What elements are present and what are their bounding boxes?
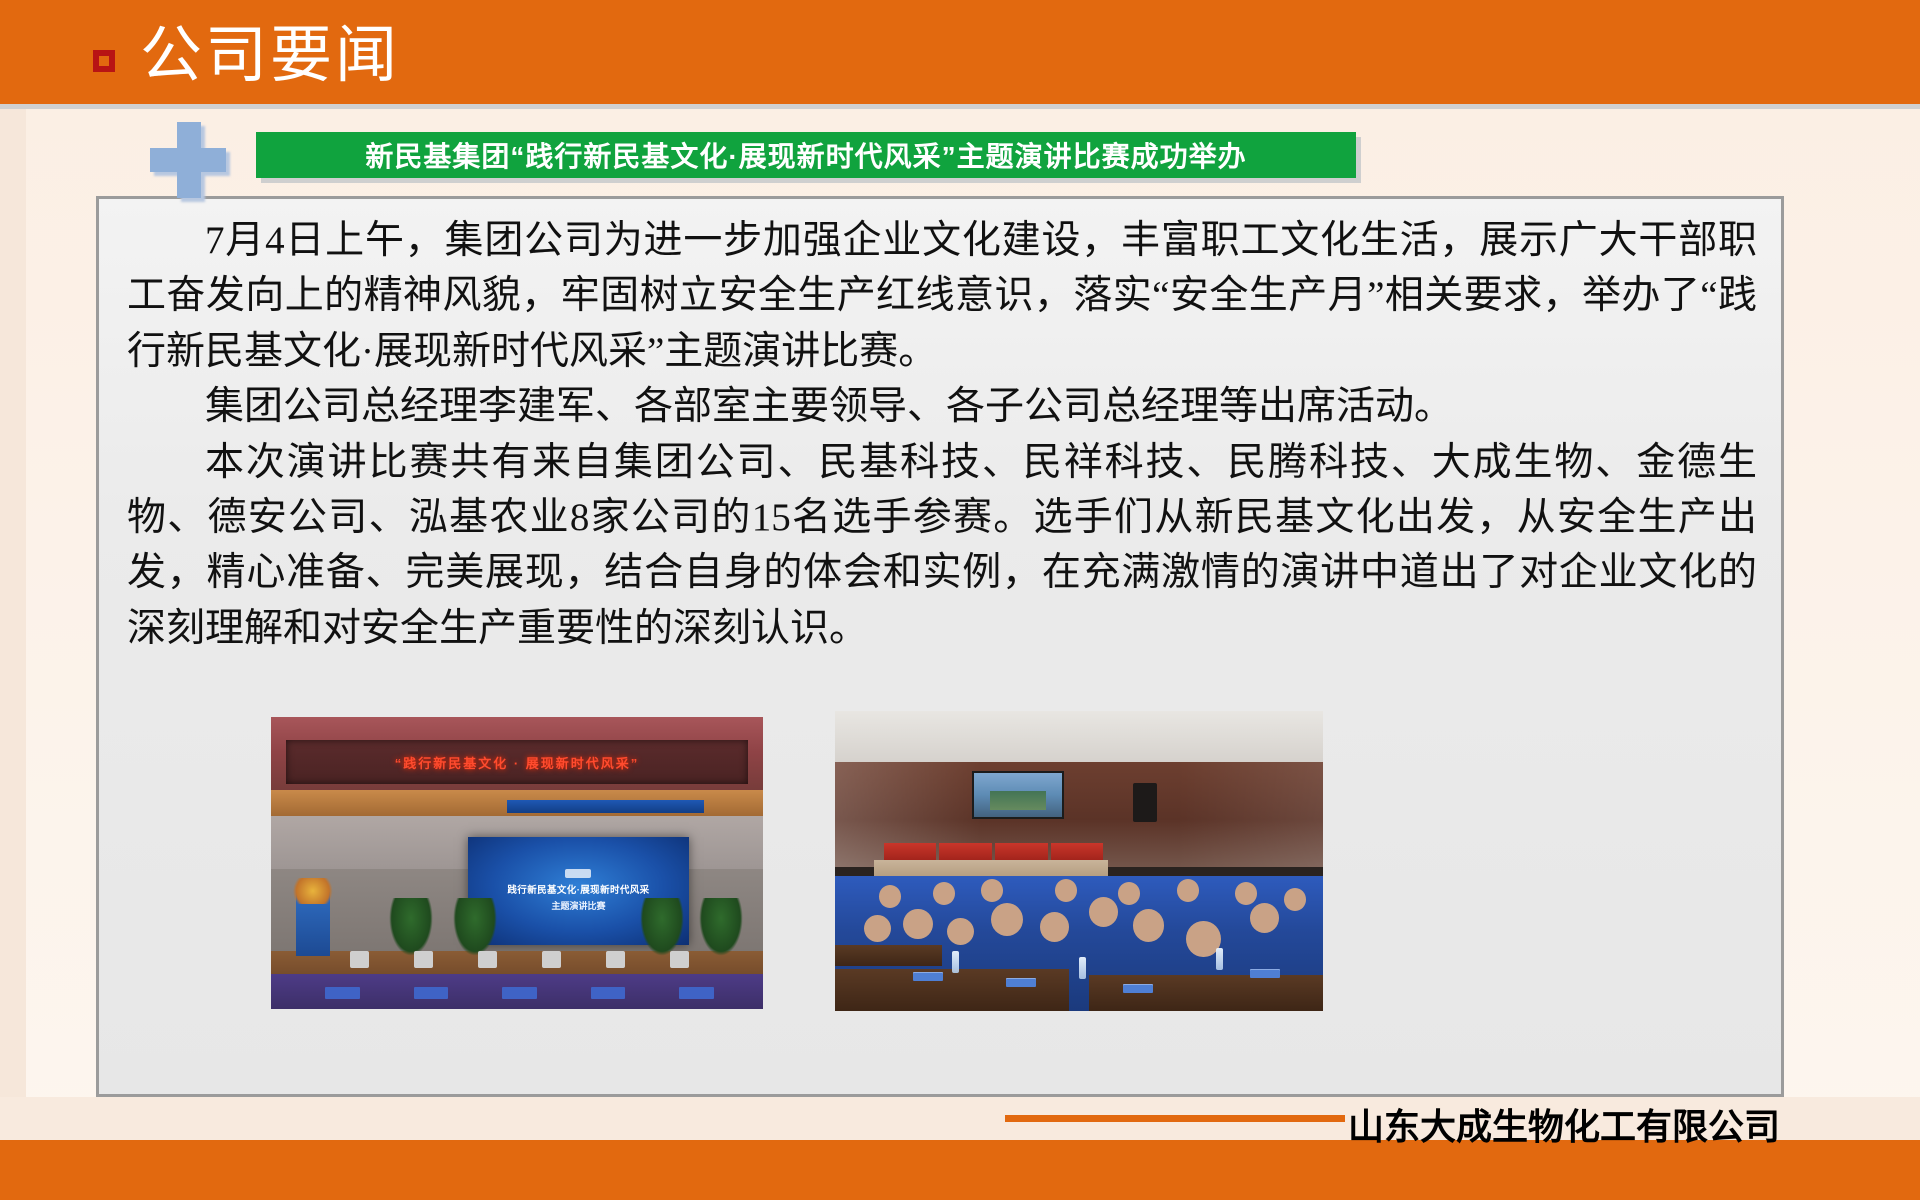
footer-company-name: 山东大成生物化工有限公司 — [1348, 1098, 1780, 1150]
square-bullet-icon — [93, 50, 115, 72]
photo-gallery: “践行新民基文化 · 展现新时代风采” 践行新民基文化·展现新时代风采 主题演讲… — [271, 717, 1571, 1017]
article-paragraph: 集团公司总经理李建军、各部室主要领导、各子公司总经理等出席活动。 — [127, 379, 1757, 434]
left-accent-rail-inner — [0, 0, 26, 1200]
left-accent-rail — [0, 0, 26, 1200]
article-body: 7月4日上午，集团公司为进一步加强企业文化建设，丰富职工文化生活，展示广大干部职… — [127, 213, 1757, 656]
slide-root: 公司要闻 新民基集团“践行新民基文化·展现新时代风采”主题演讲比赛成功举办 7月… — [0, 0, 1920, 1200]
screen-logo-icon — [565, 869, 591, 878]
news-banner-title: 新民基集团“践行新民基文化·展现新时代风采”主题演讲比赛成功举办 — [365, 135, 1246, 175]
auditorium-stage-photo: “践行新民基文化 · 展现新时代风采” 践行新民基文化·展现新时代风采 主题演讲… — [271, 717, 763, 1009]
footer-rule — [1005, 1115, 1345, 1122]
audience-photo — [835, 711, 1323, 1011]
wall-monitor — [972, 771, 1065, 819]
header-underline — [0, 104, 1920, 109]
article-paragraph: 7月4日上午，集团公司为进一步加强企业文化建设，丰富职工文化生活，展示广大干部职… — [127, 213, 1757, 379]
led-banner: “践行新民基文化 · 展现新时代风采” — [286, 740, 748, 784]
content-panel: 7月4日上午，集团公司为进一步加强企业文化建设，丰富职工文化生活，展示广大干部职… — [96, 196, 1784, 1097]
screen-title: 践行新民基文化·展现新时代风采 — [507, 882, 649, 896]
article-paragraph: 本次演讲比赛共有来自集团公司、民基科技、民祥科技、民腾科技、大成生物、金德生物、… — [127, 435, 1757, 657]
news-banner: 新民基集团“践行新民基文化·展现新时代风采”主题演讲比赛成功举办 — [256, 132, 1356, 178]
led-banner-text: “践行新民基文化 · 展现新时代风采” — [395, 753, 640, 772]
cross-marker-icon — [150, 122, 226, 198]
screen-subtitle: 主题演讲比赛 — [551, 899, 605, 912]
page-title: 公司要闻 — [140, 16, 400, 96]
